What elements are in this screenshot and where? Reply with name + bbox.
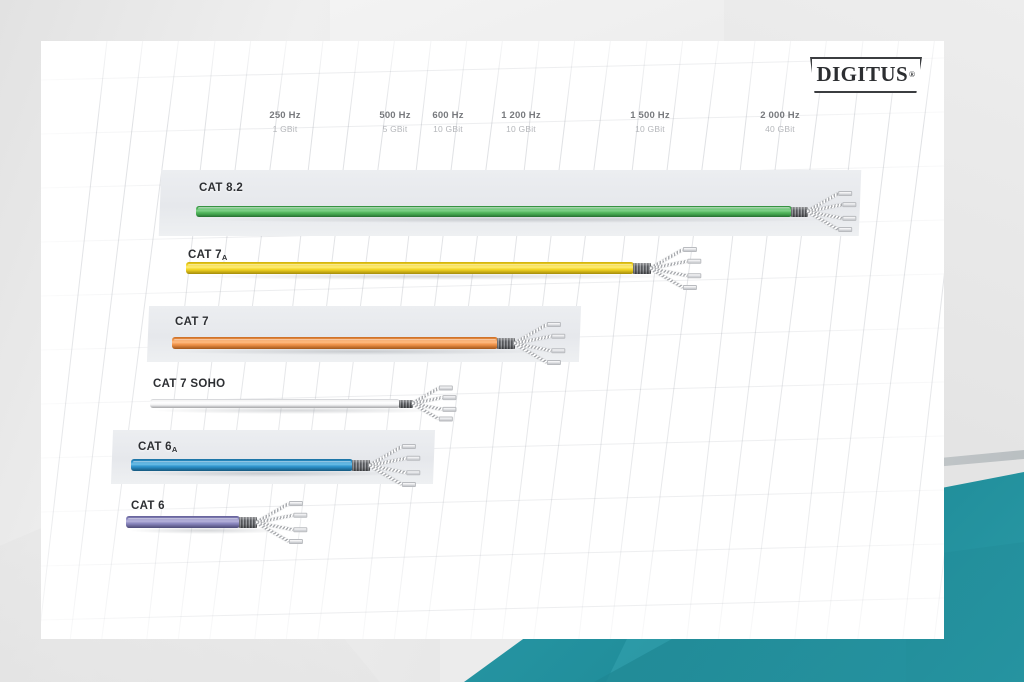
cable-category-label: CAT 6 bbox=[131, 500, 165, 512]
twisted-pair-tip bbox=[293, 527, 307, 532]
content-card: 250 Hz1 GBit500 Hz5 GBit600 Hz10 GBit1 2… bbox=[41, 41, 944, 639]
cable-shield-ferrule bbox=[239, 517, 257, 528]
cable-category-name: CAT 6 bbox=[131, 500, 165, 512]
cable-twisted-pairs bbox=[256, 522, 257, 523]
digitus-logo: DIGITUS® bbox=[810, 57, 922, 93]
twisted-pair-tip bbox=[293, 512, 307, 517]
twisted-pair-tip bbox=[289, 539, 303, 544]
logo-wordmark: DIGITUS® bbox=[810, 57, 922, 93]
page-root: 250 Hz1 GBit500 Hz5 GBit600 Hz10 GBit1 2… bbox=[0, 0, 1024, 682]
registered-trademark-icon: ® bbox=[909, 70, 915, 79]
cable-jacket bbox=[126, 516, 240, 528]
cable-shadow bbox=[130, 527, 284, 534]
cable-row: CAT 6 bbox=[41, 41, 944, 639]
twisted-pair-tip bbox=[289, 501, 303, 506]
logo-brand-name: DIGITUS bbox=[817, 62, 909, 87]
